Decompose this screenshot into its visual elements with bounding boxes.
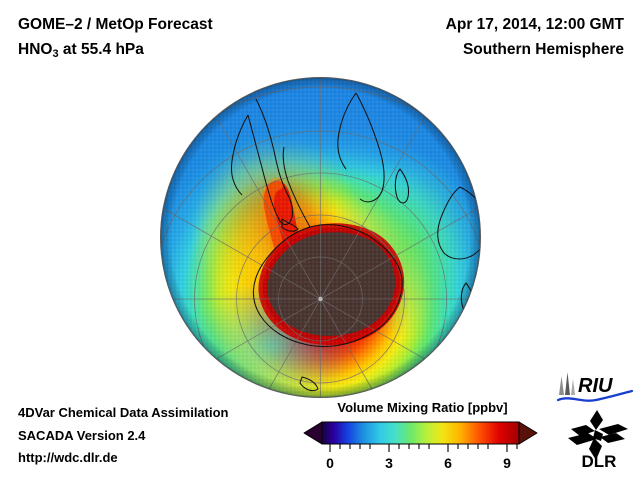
colorbar-tick-label-1: 3 bbox=[385, 455, 393, 471]
hemisphere-label: Southern Hemisphere bbox=[446, 37, 624, 62]
dlr-wordmark: DLR bbox=[582, 452, 617, 470]
species-formula-prefix: HNO bbox=[18, 41, 52, 58]
credits-block: 4DVar Chemical Data Assimilation SACADA … bbox=[18, 402, 229, 470]
species-level-suffix: at 55.4 hPa bbox=[59, 41, 144, 58]
species-level-title: HNO3 at 55.4 hPa bbox=[18, 37, 213, 64]
limb-shading bbox=[160, 77, 481, 398]
credit-method: 4DVar Chemical Data Assimilation bbox=[18, 402, 229, 425]
colorbar-tick-label-2: 6 bbox=[444, 455, 452, 471]
riu-tower-icon bbox=[559, 372, 575, 395]
instrument-title: GOME–2 / MetOp Forecast bbox=[18, 12, 213, 37]
globe-svg bbox=[160, 77, 481, 398]
colorbar: Volume Mixing Ratio [ppbv] bbox=[300, 400, 545, 476]
colorbar-svg: 0 3 6 9 bbox=[300, 418, 545, 480]
colorbar-gradient bbox=[322, 422, 519, 444]
colorbar-over-arrow bbox=[519, 422, 537, 444]
credit-url[interactable]: http://wdc.dlr.de bbox=[18, 447, 229, 470]
colorbar-tick-label-0: 0 bbox=[326, 455, 334, 471]
globe-field bbox=[160, 77, 481, 398]
header-left: GOME–2 / MetOp Forecast HNO3 at 55.4 hPa bbox=[18, 12, 213, 64]
colorbar-title: Volume Mixing Ratio [ppbv] bbox=[300, 400, 545, 415]
riu-logo: RIU bbox=[556, 371, 634, 405]
species-formula-subscript: 3 bbox=[52, 48, 58, 60]
polar-map bbox=[160, 77, 481, 398]
dlr-logo: DLR bbox=[566, 408, 632, 470]
credit-version: SACADA Version 2.4 bbox=[18, 425, 229, 448]
colorbar-tick-label-3: 9 bbox=[503, 455, 511, 471]
south-pole-marker bbox=[318, 297, 322, 301]
valid-datetime: Apr 17, 2014, 12:00 GMT bbox=[446, 12, 624, 37]
colorbar-under-arrow bbox=[304, 422, 322, 444]
riu-wordmark: RIU bbox=[578, 375, 613, 397]
colorbar-ticks bbox=[330, 444, 517, 452]
colorbar-tick-labels: 0 3 6 9 bbox=[326, 455, 511, 471]
header-right: Apr 17, 2014, 12:00 GMT Southern Hemisph… bbox=[446, 12, 624, 62]
